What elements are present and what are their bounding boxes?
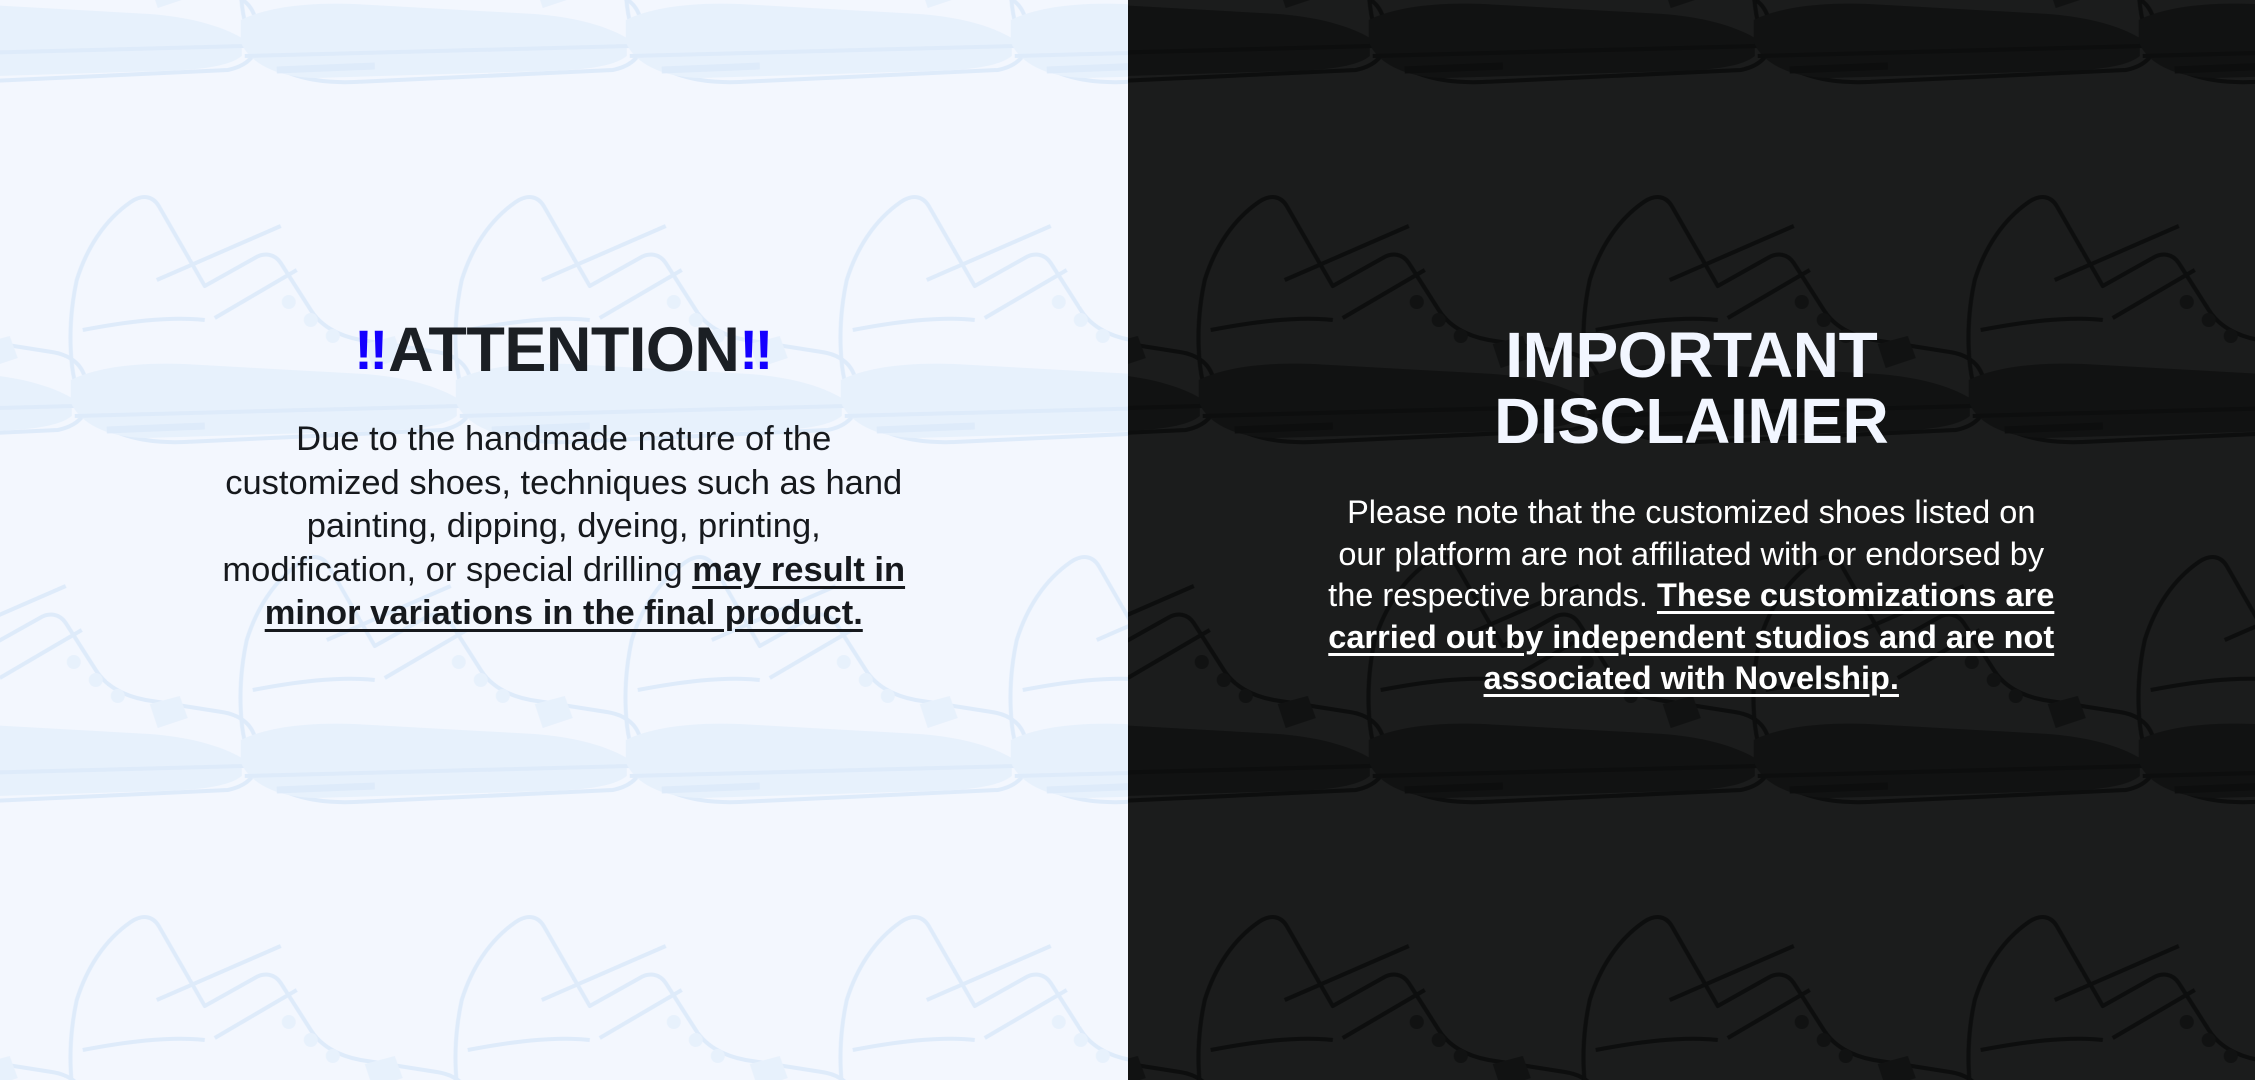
disclaimer-body: Please note that the customized shoes li… — [1291, 492, 2091, 700]
double-exclamation-icon-left: ‼ — [354, 318, 388, 381]
double-exclamation-icon-right: ‼ — [739, 318, 773, 381]
disclaimer-content: IMPORTANT DISCLAIMER Please note that th… — [1291, 0, 2091, 700]
disclaimer-panel: IMPORTANT DISCLAIMER Please note that th… — [1128, 0, 2255, 1080]
attention-heading: ‼ATTENTION‼ — [144, 318, 984, 382]
attention-body: Due to the handmade nature of the custom… — [144, 418, 984, 636]
disclaimer-heading: IMPORTANT DISCLAIMER — [1291, 322, 2091, 454]
attention-panel: ‼ATTENTION‼ Due to the handmade nature o… — [0, 0, 1128, 1080]
disclaimer-banner: ‼ATTENTION‼ Due to the handmade nature o… — [0, 0, 2255, 1080]
disclaimer-heading-line-1: IMPORTANT — [1505, 319, 1877, 391]
attention-content: ‼ATTENTION‼ Due to the handmade nature o… — [144, 0, 984, 636]
attention-heading-text: ATTENTION — [388, 315, 739, 385]
disclaimer-heading-line-2: DISCLAIMER — [1494, 385, 1888, 457]
